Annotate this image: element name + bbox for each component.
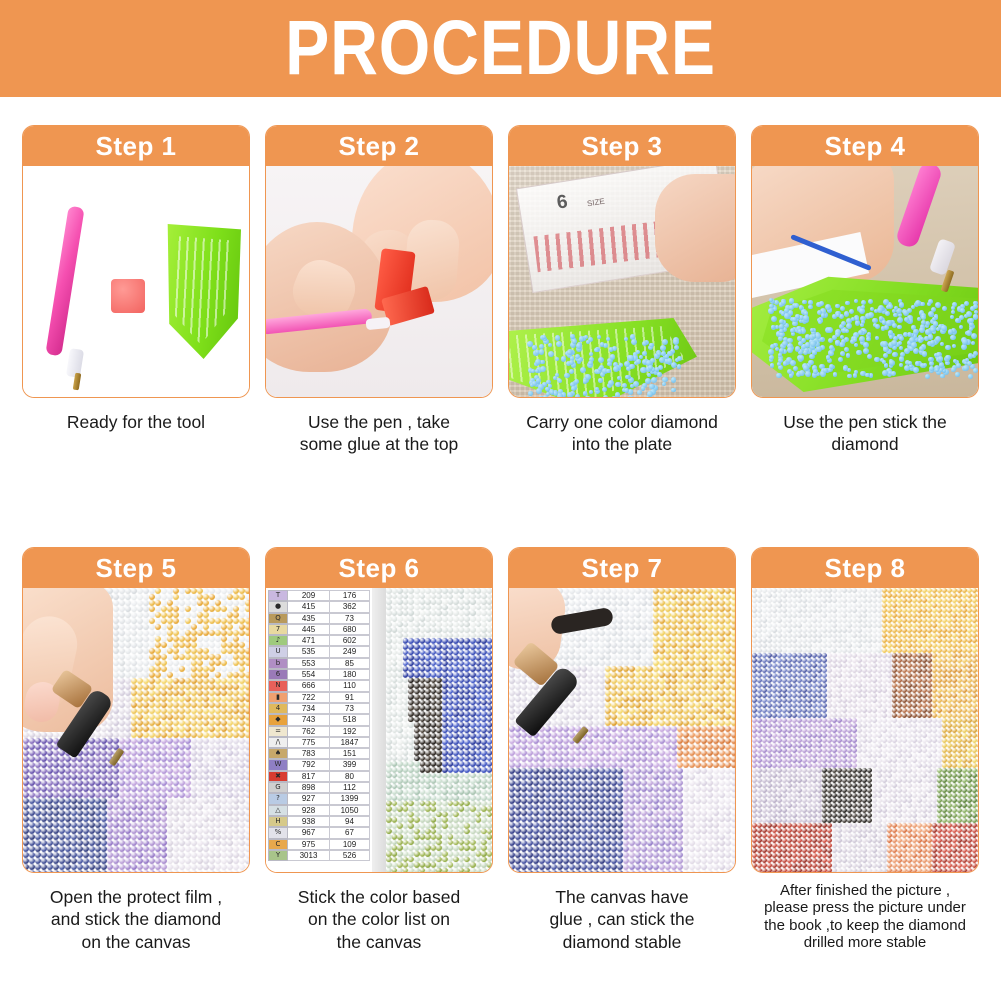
step-cell-8: Step 8 After finished the picture ,pleas… [751,547,979,967]
table-row: ◆743518 [268,714,372,725]
table-row: △9281050 [268,805,372,816]
step-card-4: Step 4 [751,125,979,398]
color-symbol-cell: = [268,726,288,737]
steps-grid: Step 1 Ready for the tool [0,97,1001,1001]
bead-count-cell: 151 [330,748,370,759]
table-row: U535249 [268,646,372,657]
step-cell-3: Step 3 6 SIZE [508,125,736,525]
color-symbol-cell: b [268,658,288,669]
table-row: 473473 [268,703,372,714]
table-row: Y3013526 [268,850,372,861]
dmc-number-cell: 927 [288,793,330,804]
table-row: N666110 [268,680,372,691]
dmc-number-cell: 792 [288,759,330,770]
table-row: H93894 [268,816,372,827]
bead-count-cell: 110 [330,680,370,691]
dmc-number-cell: 967 [288,827,330,838]
dmc-number-cell: 975 [288,839,330,850]
table-row: =762192 [268,726,372,737]
page-title: PROCEDURE [285,10,716,87]
step-caption-8: After finished the picture ,please press… [742,882,988,952]
procedure-infographic: PROCEDURE Step 1 [0,0,1001,1001]
color-symbol-cell: ♠ [268,748,288,759]
step-cell-1: Step 1 Ready for the tool [22,125,250,525]
drill-pen-icon [45,206,84,357]
bead-count-cell: 399 [330,759,370,770]
table-row: ✖81780 [268,771,372,782]
dmc-number-cell: 775 [288,737,330,748]
bead-count-cell: 602 [330,635,370,646]
color-symbol-cell: ? [268,793,288,804]
bead-count-cell: 180 [330,669,370,680]
step-badge-7: Step 7 [509,548,735,588]
step-badge-5: Step 5 [23,548,249,588]
wax-square-icon [111,279,145,313]
step-image-4 [752,166,978,397]
glue-pickup-photo [266,166,492,397]
color-symbol-cell: H [268,816,288,827]
table-row: T209176 [268,590,372,601]
dmc-number-cell: 554 [288,669,330,680]
table-row: ?9271399 [268,793,372,804]
step-caption-3: Carry one color diamondinto the plate [504,411,740,456]
finished-painting-photo [752,588,978,872]
dmc-number-cell: 762 [288,726,330,737]
color-symbol-cell: 6 [268,669,288,680]
dmc-number-cell: 415 [288,601,330,612]
step-card-6: Step 6 T209176●415362Q435737445680♪47160… [265,547,493,873]
pen-tip-icon [73,373,82,391]
step-card-7: Step 7 [508,547,736,873]
table-row: 6554180 [268,669,372,680]
step-image-1 [23,166,249,397]
step-caption-7: The canvas haveglue , can stick thediamo… [504,886,740,953]
table-row: ●415362 [268,601,372,612]
bead-count-cell: 1399 [330,793,370,804]
page-gutter [372,588,386,872]
dmc-number-cell: 938 [288,816,330,827]
steps-row-top: Step 1 Ready for the tool [0,125,1001,525]
step-caption-2: Use the pen , takesome glue at the top [261,411,497,456]
color-symbol-cell: 7 [268,624,288,635]
table-row: ♠783151 [268,748,372,759]
bead-count-cell: 1050 [330,805,370,816]
table-row: G898112 [268,782,372,793]
table-row: ▮72291 [268,692,372,703]
step-card-2: Step 2 [265,125,493,398]
step-cell-5: Step 5 Open the protect film , [22,547,250,967]
table-row: 7445680 [268,624,372,635]
color-symbol-cell: Q [268,613,288,624]
bead-count-cell: 80 [330,771,370,782]
step-caption-4: Use the pen stick thediamond [747,411,983,456]
dmc-number-cell: 734 [288,703,330,714]
diamond-canvas [386,588,492,872]
color-symbol-cell: 4 [268,703,288,714]
step-cell-6: Step 6 T209176●415362Q435737445680♪47160… [265,547,493,967]
step-badge-8: Step 8 [752,548,978,588]
step-cell-7: Step 7 The canvas haveglue , can stick t… [508,547,736,967]
drill-pen-icon [895,166,944,249]
color-list-and-canvas: T209176●415362Q435737445680♪471602U53524… [266,588,492,872]
step-image-5 [23,588,249,872]
step-caption-6: Stick the color basedon the color list o… [261,886,497,953]
step-image-7 [509,588,735,872]
dmc-number-cell: 445 [288,624,330,635]
color-symbol-cell: ▮ [268,692,288,703]
pour-diamonds-photo: 6 SIZE [509,166,735,397]
bead-count-cell: 249 [330,646,370,657]
step-image-2 [266,166,492,397]
step-badge-6: Step 6 [266,548,492,588]
color-symbol-cell: U [268,646,288,657]
bead-count-cell: 176 [330,590,370,601]
dmc-number-cell: 783 [288,748,330,759]
table-row: W792399 [268,759,372,770]
table-row: C975109 [268,839,372,850]
color-symbol-cell: C [268,839,288,850]
dmc-number-cell: 928 [288,805,330,816]
color-symbol-cell: ◆ [268,714,288,725]
color-symbol-cell: T [268,590,288,601]
dmc-number-cell: 553 [288,658,330,669]
dmc-number-cell: 435 [288,613,330,624]
table-row: /\7751847 [268,737,372,748]
hand-icon [655,174,735,282]
bead-count-cell: 73 [330,703,370,714]
bead-count-cell: 94 [330,816,370,827]
step-badge-2: Step 2 [266,126,492,166]
pick-diamond-photo [752,166,978,397]
bead-count-cell: 112 [330,782,370,793]
step-caption-1: Ready for the tool [18,411,254,433]
dmc-number-cell: 535 [288,646,330,657]
bead-count-cell: 109 [330,839,370,850]
bead-count-cell: 91 [330,692,370,703]
press-diamond-photo [509,588,735,872]
table-row: %96767 [268,827,372,838]
step-image-3: 6 SIZE [509,166,735,397]
step-card-3: Step 3 6 SIZE [508,125,736,398]
step-caption-5: Open the protect film ,and stick the dia… [18,886,254,953]
color-symbol-cell: /\ [268,737,288,748]
bead-count-cell: 526 [330,850,370,861]
stick-diamond-photo [23,588,249,872]
color-symbol-cell: W [268,759,288,770]
dmc-number-cell: 666 [288,680,330,691]
diamond-canvas-area [386,588,492,872]
bead-count-cell: 362 [330,601,370,612]
tools-illustration [23,166,249,397]
step-card-5: Step 5 [22,547,250,873]
step-image-8 [752,588,978,872]
color-symbol-cell: G [268,782,288,793]
dmc-number-cell: 209 [288,590,330,601]
color-symbol-cell: N [268,680,288,691]
bead-count-cell: 85 [330,658,370,669]
bead-count-cell: 73 [330,613,370,624]
bead-count-cell: 518 [330,714,370,725]
step-cell-2: Step 2 [265,125,493,525]
color-symbol-cell: ✖ [268,771,288,782]
diamond-canvas [752,588,978,872]
steps-row-bottom: Step 5 Open the protect film , [0,547,1001,967]
dmc-number-cell: 3013 [288,850,330,861]
dmc-number-cell: 471 [288,635,330,646]
step-badge-3: Step 3 [509,126,735,166]
dmc-number-cell: 817 [288,771,330,782]
color-symbol-cell: ● [268,601,288,612]
table-row: Q43573 [268,613,372,624]
bead-count-cell: 1847 [330,737,370,748]
table-row: ♪471602 [268,635,372,646]
color-list-table: T209176●415362Q435737445680♪471602U53524… [266,588,372,872]
dmc-number-cell: 898 [288,782,330,793]
page-header-banner: PROCEDURE [0,0,1001,97]
step-cell-4: Step 4 [751,125,979,525]
color-symbol-cell: ♪ [268,635,288,646]
bead-count-cell: 67 [330,827,370,838]
step-card-8: Step 8 [751,547,979,873]
step-badge-4: Step 4 [752,126,978,166]
dmc-number-cell: 743 [288,714,330,725]
color-symbol-cell: Y [268,850,288,861]
bead-count-cell: 680 [330,624,370,635]
color-symbol-cell: % [268,827,288,838]
step-card-1: Step 1 [22,125,250,398]
step-image-6: T209176●415362Q435737445680♪471602U53524… [266,588,492,872]
table-row: b55385 [268,658,372,669]
color-symbol-cell: △ [268,805,288,816]
bead-count-cell: 192 [330,726,370,737]
step-badge-1: Step 1 [23,126,249,166]
dmc-number-cell: 722 [288,692,330,703]
